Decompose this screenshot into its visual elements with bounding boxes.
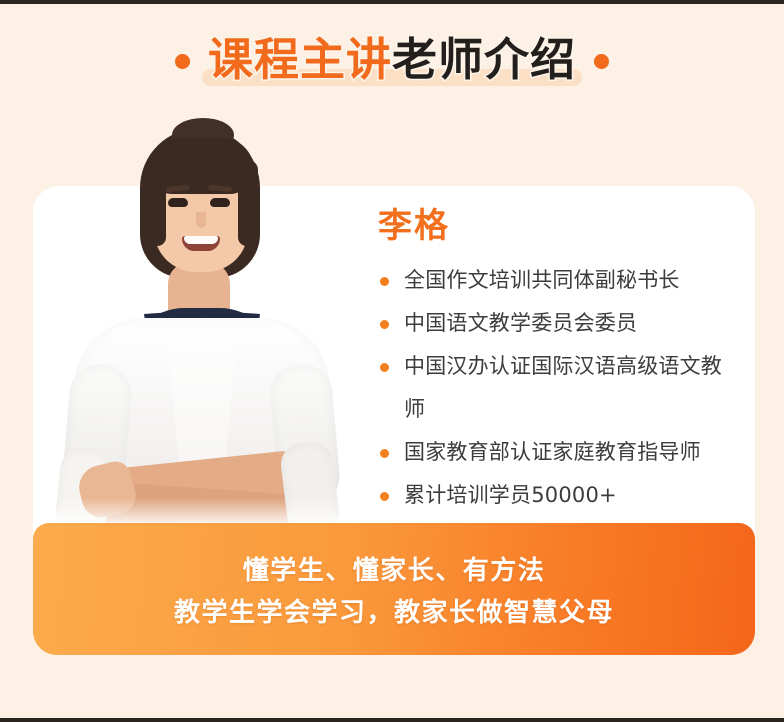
bullet-dot-left-icon	[175, 54, 190, 69]
credential-item: 累计培训学员50000+	[378, 474, 738, 517]
page-header: 课程主讲 老师介绍	[0, 26, 784, 92]
slogan-banner: 懂学生、懂家长、有方法 教学生学会学习，教家长做智慧父母	[33, 523, 755, 655]
credential-item: 中国汉办认证国际汉语高级语文教师	[378, 345, 738, 431]
page-title-rest: 老师介绍	[392, 37, 576, 82]
teacher-info: 李格 全国作文培训共同体副秘书长 中国语文教学委员会委员 中国汉办认证国际汉语高…	[378, 206, 738, 517]
top-edge-strip	[0, 0, 784, 4]
bullet-dot-right-icon	[594, 54, 609, 69]
slogan-line-2: 教学生学会学习，教家长做智慧父母	[174, 592, 614, 629]
teacher-name: 李格	[378, 206, 738, 247]
credential-item: 国家教育部认证家庭教育指导师	[378, 431, 738, 474]
slogan-line-1: 懂学生、懂家长、有方法	[243, 550, 546, 587]
page-title-highlight: 课程主讲	[208, 37, 392, 82]
credential-item: 全国作文培训共同体副秘书长	[378, 259, 738, 302]
page-title: 课程主讲 老师介绍	[208, 37, 576, 82]
bottom-edge-strip	[0, 718, 784, 722]
credential-item: 中国语文教学委员会委员	[378, 302, 738, 345]
credentials-list: 全国作文培训共同体副秘书长 中国语文教学委员会委员 中国汉办认证国际汉语高级语文…	[378, 259, 738, 517]
